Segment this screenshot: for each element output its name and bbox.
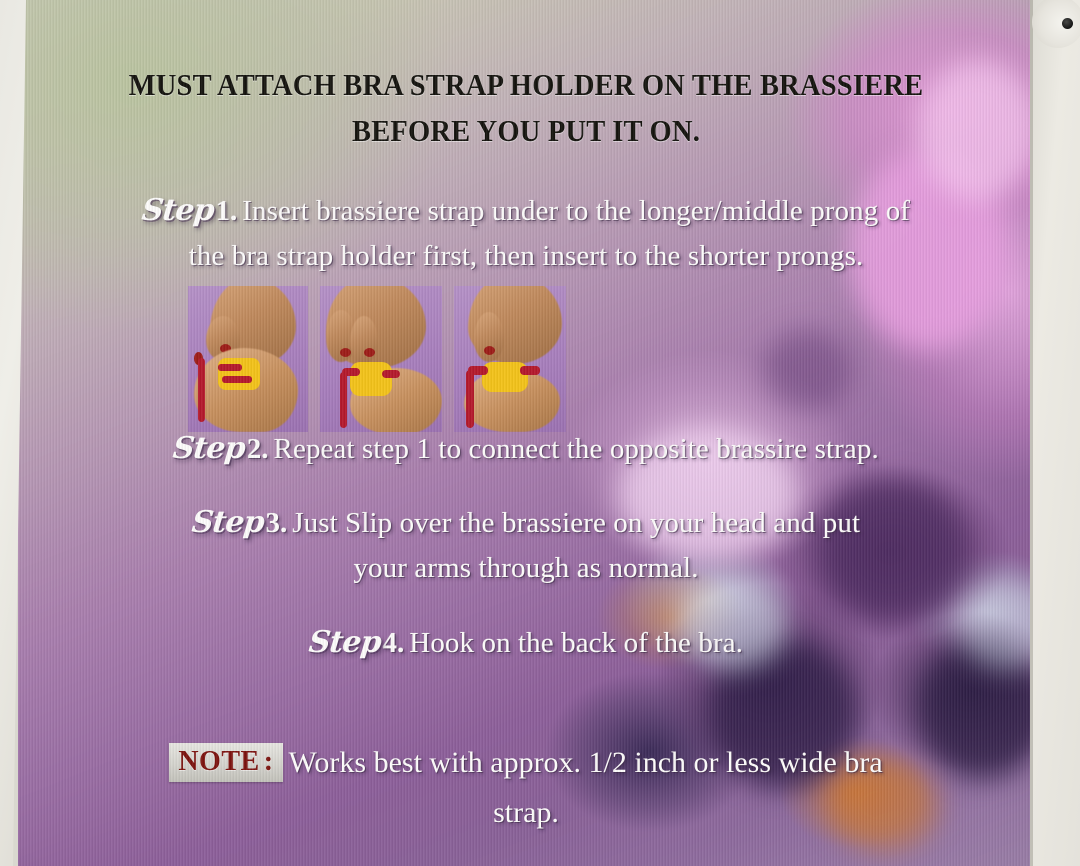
fingernail	[484, 346, 495, 355]
step-number: 1.	[216, 195, 238, 227]
finger	[350, 316, 378, 364]
heading-line-1: MUST ATTACH BRA STRAP HOLDER ON THE BRAS…	[114, 62, 938, 108]
instruction-photo-2	[320, 286, 442, 432]
step-text: Hook on the back of the bra.	[409, 627, 743, 659]
instruction-photo-strip	[188, 286, 608, 432]
note-line-2: strap.	[78, 788, 974, 838]
step-label: Step	[140, 188, 216, 233]
bra-strap-holder-clip	[218, 358, 260, 390]
webcam-icon	[1032, 0, 1080, 48]
step-2-line-1: Step2.Repeat step 1 to connect the oppos…	[88, 426, 964, 472]
step-label: Step	[307, 620, 383, 665]
slide-content: MUST ATTACH BRA STRAP HOLDER ON THE BRAS…	[18, 0, 1034, 866]
bra-strap-tail	[466, 370, 474, 428]
step-4-line-1: Step4.Hook on the back of the bra.	[88, 620, 964, 666]
step-number: 2.	[247, 433, 269, 465]
step-number: 3.	[265, 507, 287, 539]
step-item-1: Step1.Insert brassiere strap under to th…	[18, 188, 1034, 279]
bra-strap-tail	[340, 372, 347, 428]
step-label: Step	[190, 500, 266, 545]
fingernail	[340, 348, 351, 357]
bra-strap	[218, 364, 242, 371]
bra-strap-tail	[198, 358, 205, 422]
step-item-2: Step2.Repeat step 1 to connect the oppos…	[18, 426, 1034, 472]
bra-strap	[520, 366, 540, 375]
instruction-photo-1	[188, 286, 308, 432]
instruction-photo-3	[454, 286, 566, 432]
bra-strap	[222, 376, 252, 383]
note-colon: :	[264, 746, 274, 777]
note-badge: NOTE:	[169, 743, 282, 782]
step-item-3: Step3.Just Slip over the brassiere on yo…	[18, 500, 1034, 591]
step-text: Insert brassiere strap under to the long…	[242, 195, 910, 227]
step-1-line-2: the bra strap holder first, then insert …	[88, 234, 964, 279]
step-item-4: Step4.Hook on the back of the bra.	[18, 620, 1034, 666]
note-line-1: NOTE:Works best with approx. 1/2 inch or…	[78, 738, 974, 788]
fingernail	[364, 348, 375, 357]
note-text: Works best with approx. 1/2 inch or less…	[289, 746, 883, 779]
step-label: Step	[171, 426, 247, 471]
screenshot-root: MUST ATTACH BRA STRAP HOLDER ON THE BRAS…	[0, 0, 1080, 866]
step-text: Repeat step 1 to connect the opposite br…	[274, 433, 879, 465]
bra-strap	[382, 370, 400, 378]
monitor-bezel-right	[1030, 0, 1080, 866]
step-text: Just Slip over the brassiere on your hea…	[292, 507, 860, 539]
step-3-line-1: Step3.Just Slip over the brassiere on yo…	[88, 500, 964, 546]
monitor-screen: MUST ATTACH BRA STRAP HOLDER ON THE BRAS…	[18, 0, 1034, 866]
note-block: NOTE:Works best with approx. 1/2 inch or…	[18, 738, 1034, 838]
step-1-line-1: Step1.Insert brassiere strap under to th…	[88, 188, 964, 234]
heading-line-2: BEFORE YOU PUT IT ON.	[114, 108, 938, 154]
note-label: NOTE	[178, 746, 259, 777]
step-number: 4.	[383, 627, 405, 659]
page-title: MUST ATTACH BRA STRAP HOLDER ON THE BRAS…	[59, 62, 994, 154]
step-3-line-2: your arms through as normal.	[88, 546, 964, 591]
